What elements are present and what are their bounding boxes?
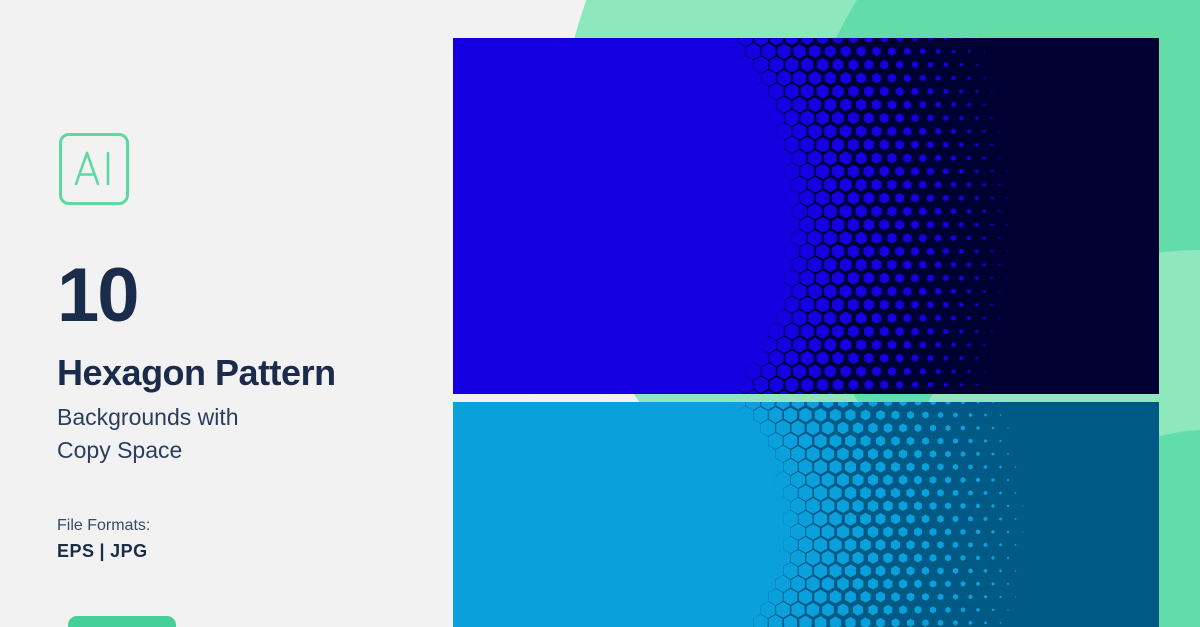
page-subtitle-line-2: Copy Space — [57, 434, 437, 467]
page-subtitle-line-1: Backgrounds with — [57, 401, 437, 434]
page-title: Hexagon Pattern — [57, 354, 336, 392]
info-panel: 10 Hexagon Pattern Backgrounds with Copy… — [0, 0, 453, 627]
cta-button[interactable] — [68, 616, 176, 627]
file-formats-label: File Formats: — [57, 517, 150, 535]
preview-canvas: 10 Hexagon Pattern Backgrounds with Copy… — [0, 0, 1200, 627]
format-eps: EPS — [57, 541, 95, 561]
preview-thumbnail-teal[interactable] — [453, 402, 1159, 627]
format-separator: | — [95, 541, 111, 561]
adobe-illustrator-badge — [59, 133, 129, 205]
pack-count: 10 — [57, 258, 138, 334]
file-formats-value: EPS|JPG — [57, 541, 148, 562]
preview-thumbnail-navy[interactable] — [453, 38, 1159, 394]
format-jpg: JPG — [110, 541, 148, 561]
page-subtitle: Backgrounds with Copy Space — [57, 401, 437, 466]
